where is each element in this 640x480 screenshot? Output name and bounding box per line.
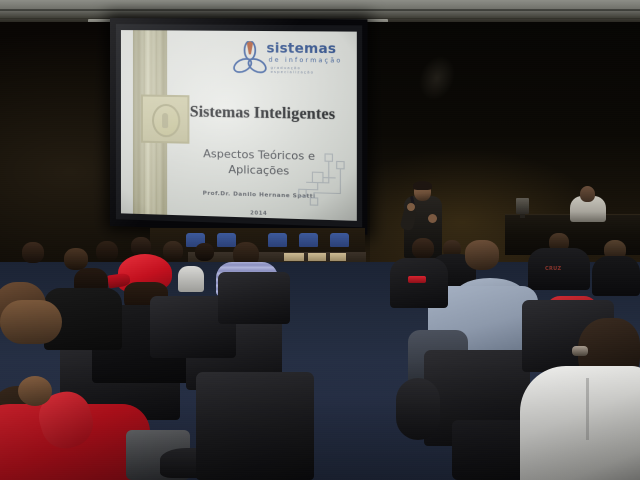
presenter-hand-holding-mic bbox=[407, 203, 415, 211]
slide-title: Sistemas Inteligentes bbox=[179, 103, 346, 124]
audience-arm-foreground-left bbox=[0, 300, 62, 344]
attendee-black-jacket-torso bbox=[390, 258, 448, 308]
jacket-emblem-text: CRUZ bbox=[545, 266, 561, 272]
screen-bezel: sistemas de informação graduação especia… bbox=[116, 24, 362, 227]
audience-head bbox=[96, 241, 118, 262]
presenter-gesturing-hand bbox=[428, 214, 437, 223]
auditorium-seat bbox=[218, 272, 290, 324]
front-chair bbox=[299, 233, 318, 247]
front-chair bbox=[268, 233, 287, 247]
audience-torso bbox=[592, 256, 640, 296]
audience-head bbox=[412, 238, 434, 259]
slide-medallion-ring bbox=[152, 104, 180, 138]
monitor-stand bbox=[520, 214, 525, 218]
jacket-badge-red bbox=[408, 276, 426, 283]
front-chair bbox=[217, 233, 236, 247]
desk-paper bbox=[330, 253, 346, 261]
audience-head bbox=[64, 248, 88, 270]
attendee-white-shirt-shoulder-seam bbox=[586, 378, 589, 440]
attendee-glasses-icon bbox=[572, 346, 588, 356]
slide-medallion-leaf bbox=[162, 113, 168, 128]
presentation-slide: sistemas de informação graduação especia… bbox=[121, 30, 357, 221]
desk-paper bbox=[308, 253, 326, 261]
logo-tagline: graduação especialização bbox=[271, 66, 344, 75]
sistemas-de-informacao-logo: sistemas de informação graduação especia… bbox=[231, 39, 344, 83]
attendee-grey-hoodie-head bbox=[465, 240, 499, 270]
auditorium-seat bbox=[196, 372, 314, 480]
seat-armrest bbox=[396, 378, 440, 440]
attendee-red-hoodie-hand bbox=[18, 376, 52, 406]
front-chair bbox=[330, 233, 349, 247]
attendee-white-shirt-torso bbox=[520, 366, 640, 480]
monitor-icon bbox=[516, 198, 529, 214]
presenter-hair bbox=[413, 181, 432, 190]
seated-attendee-back-right-head bbox=[580, 186, 595, 202]
audience-head bbox=[22, 242, 44, 263]
trefoil-knot-icon bbox=[231, 41, 268, 80]
ceiling-seam bbox=[0, 9, 640, 11]
projection-screen: sistemas de informação graduação especia… bbox=[110, 18, 367, 235]
audience-head bbox=[163, 241, 183, 261]
desk-paper bbox=[284, 253, 304, 261]
audience-white-sleeve bbox=[178, 266, 204, 292]
logo-subtitle: de informação bbox=[269, 57, 343, 65]
lecture-hall-photo: sistemas de informação graduação especia… bbox=[0, 0, 640, 480]
logo-wordmark: sistemas bbox=[266, 42, 336, 56]
audience-head bbox=[195, 243, 214, 261]
circuit-nodes-icon bbox=[289, 147, 350, 212]
